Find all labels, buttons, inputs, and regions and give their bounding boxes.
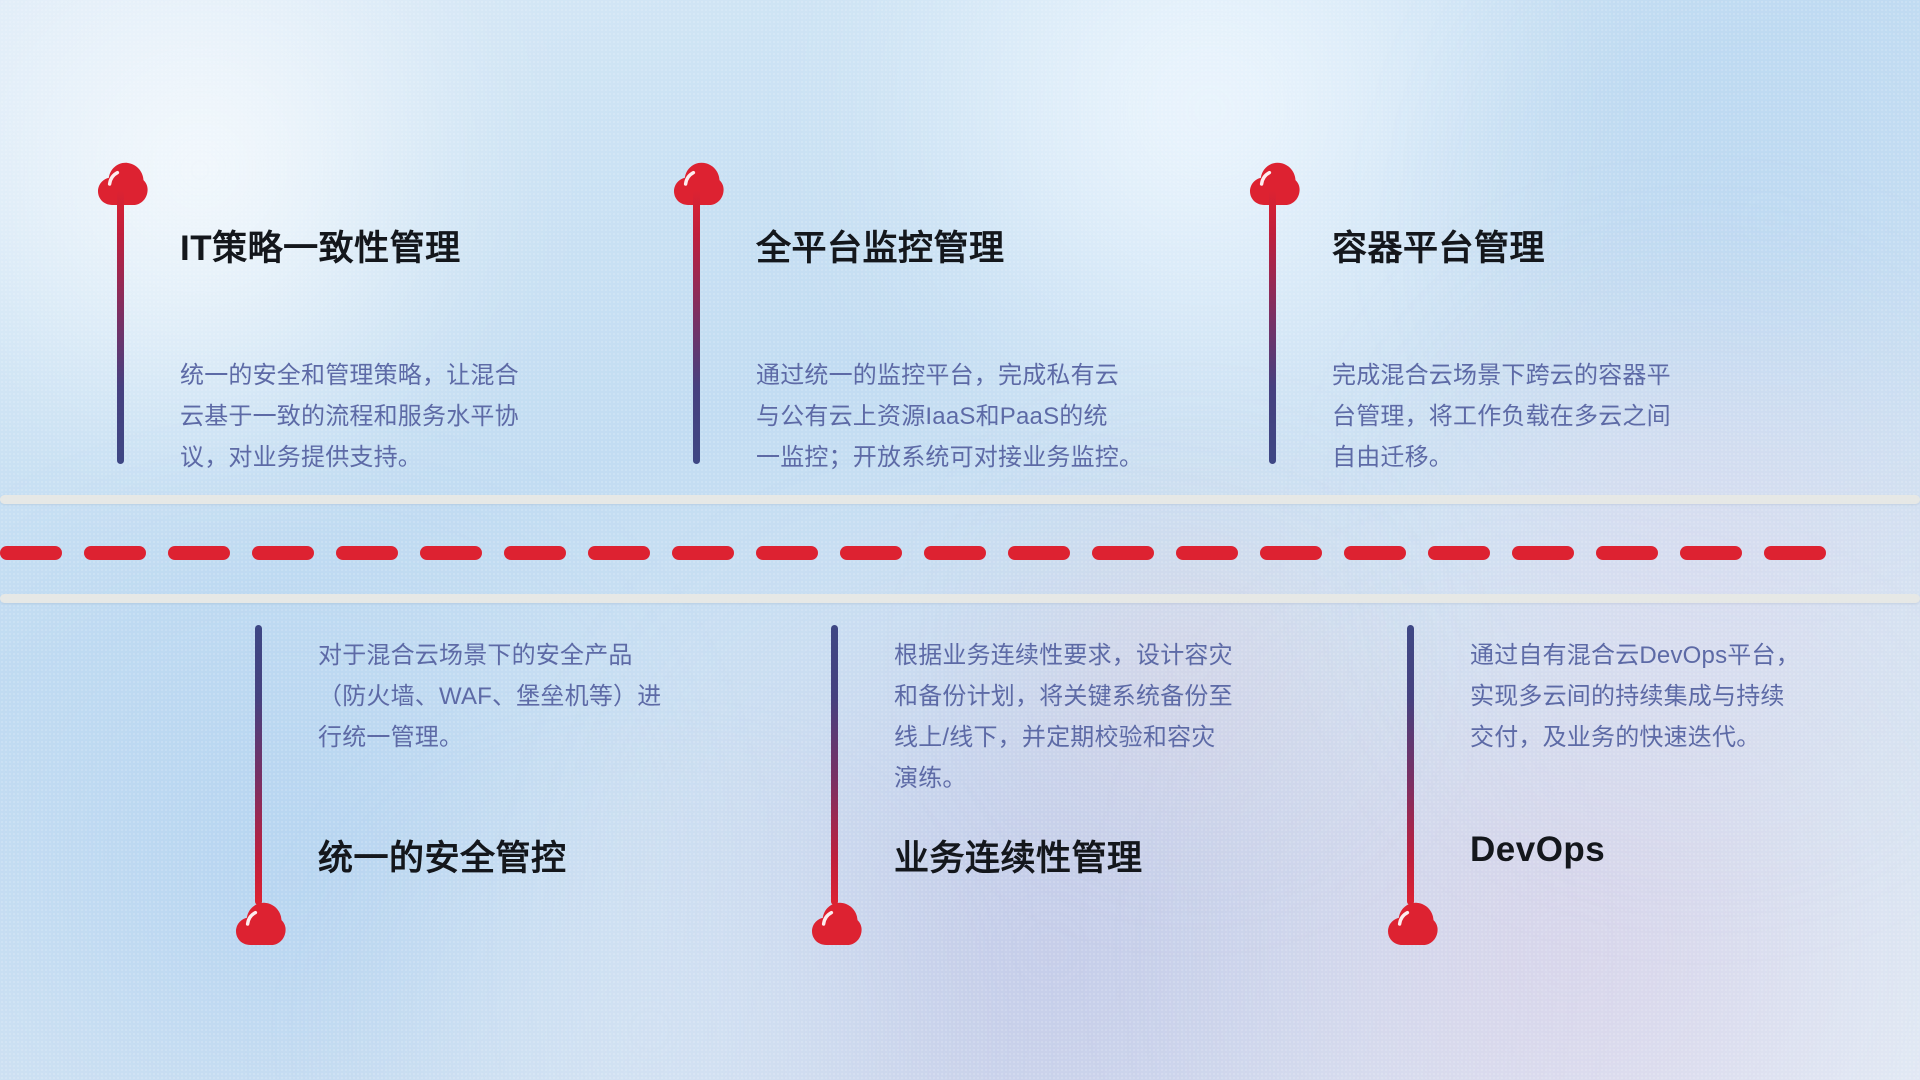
top-body-3: 完成混合云场景下跨云的容器平 台管理，将工作负载在多云之间 自由迁移。 [1332, 355, 1671, 478]
bottom-title-2: 业务连续性管理 [894, 830, 1143, 881]
body-line: 演练。 [894, 758, 1233, 799]
road-dash [1008, 546, 1070, 560]
bottom-title-3: DevOps [1470, 830, 1605, 870]
bottom-body-2: 根据业务连续性要求，设计容灾 和备份计划，将关键系统备份至 线上/线下，并定期校… [894, 635, 1233, 799]
road-dash [1764, 546, 1826, 560]
body-line: （防火墙、WAF、堡垒机等）进 [318, 676, 661, 717]
background-canvas [0, 0, 1920, 1080]
road-dash [0, 546, 62, 560]
road-dash [1176, 546, 1238, 560]
body-line: 通过自有混合云DevOps平台， [1470, 635, 1800, 676]
road-edge-top [0, 495, 1920, 504]
body-line: 完成混合云场景下跨云的容器平 [1332, 355, 1671, 396]
body-line: 和备份计划，将关键系统备份至 [894, 676, 1233, 717]
road-center-dashes [0, 546, 1920, 560]
body-line: 自由迁移。 [1332, 437, 1671, 478]
body-line: 议，对业务提供支持。 [180, 437, 519, 478]
body-line: 统一的安全和管理策略，让混合 [180, 355, 519, 396]
top-stem-2 [693, 190, 700, 464]
road-dash [1680, 546, 1742, 560]
body-line: 通过统一的监控平台，完成私有云 [756, 355, 1143, 396]
road-dash [924, 546, 986, 560]
bottom-stem-3 [1407, 625, 1414, 905]
body-line: 台管理，将工作负载在多云之间 [1332, 396, 1671, 437]
top-stem-3 [1269, 190, 1276, 464]
body-line: 交付，及业务的快速迭代。 [1470, 717, 1800, 758]
bottom-body-3: 通过自有混合云DevOps平台， 实现多云间的持续集成与持续 交付，及业务的快速… [1470, 635, 1800, 758]
road-dash [1428, 546, 1490, 560]
road-dash [504, 546, 566, 560]
top-title-2: 全平台监控管理 [756, 220, 1005, 271]
body-line: 与公有云上资源IaaS和PaaS的统 [756, 396, 1143, 437]
body-line: 根据业务连续性要求，设计容灾 [894, 635, 1233, 676]
background-grain-texture [0, 0, 1920, 1080]
road-dash [588, 546, 650, 560]
road-dash [336, 546, 398, 560]
body-line: 线上/线下，并定期校验和容灾 [894, 717, 1233, 758]
road-dash [1512, 546, 1574, 560]
road-dash [168, 546, 230, 560]
road-edge-bottom [0, 594, 1920, 603]
road-dash [1092, 546, 1154, 560]
bottom-body-1: 对于混合云场景下的安全产品 （防火墙、WAF、堡垒机等）进 行统一管理。 [318, 635, 661, 758]
body-line: 行统一管理。 [318, 717, 661, 758]
road-dash [672, 546, 734, 560]
top-title-1: IT策略一致性管理 [180, 220, 461, 271]
body-line: 云基于一致的流程和服务水平协 [180, 396, 519, 437]
top-body-2: 通过统一的监控平台，完成私有云 与公有云上资源IaaS和PaaS的统 一监控；开… [756, 355, 1143, 478]
road-dash [756, 546, 818, 560]
top-title-3: 容器平台管理 [1332, 220, 1545, 271]
body-line: 一监控；开放系统可对接业务监控。 [756, 437, 1143, 478]
top-body-1: 统一的安全和管理策略，让混合 云基于一致的流程和服务水平协 议，对业务提供支持。 [180, 355, 519, 478]
top-stem-1 [117, 190, 124, 464]
road-dash [420, 546, 482, 560]
body-line: 实现多云间的持续集成与持续 [1470, 676, 1800, 717]
road-dash [1344, 546, 1406, 560]
road-dash [84, 546, 146, 560]
bottom-stem-2 [831, 625, 838, 905]
body-line: 对于混合云场景下的安全产品 [318, 635, 661, 676]
road-dash [1596, 546, 1658, 560]
bottom-stem-1 [255, 625, 262, 905]
bottom-title-1: 统一的安全管控 [318, 830, 567, 881]
road-dash [840, 546, 902, 560]
road-dash [252, 546, 314, 560]
road-dash [1260, 546, 1322, 560]
